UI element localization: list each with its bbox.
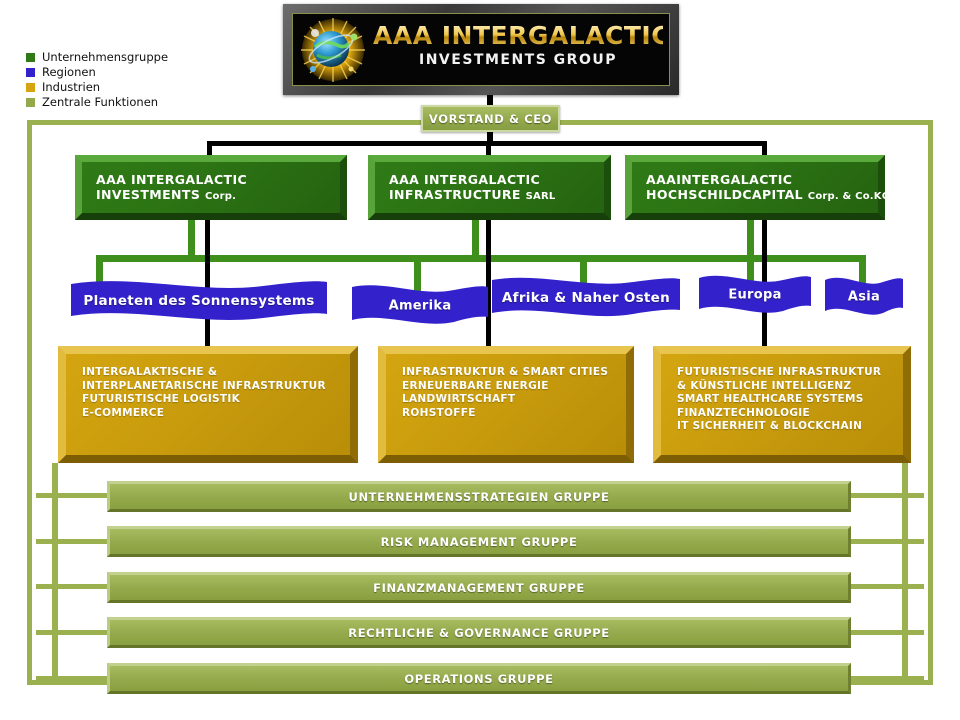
legend-item-industrien: Industrien (26, 80, 168, 94)
logo-title: AAA INTERGALACTIC (373, 22, 663, 50)
legend-item-unternehmensgruppe: Unternehmensgruppe (26, 50, 168, 64)
industry3-line3: SMART HEALTHCARE SYSTEMS (677, 393, 903, 407)
node-aaa-intergalactic-investments[interactable]: AAA INTERGALACTIC INVESTMENTS Corp. (75, 155, 347, 220)
node-investments-suffix: Corp. (205, 191, 236, 202)
logo-panel: AAA INTERGALACTIC INVESTMENTS GROUP (292, 13, 670, 86)
node-aaa-intergalactic-hochschildcapital[interactable]: AAAINTERGALACTIC HOCHSCHILDCAPITAL Corp.… (625, 155, 885, 220)
connector-co3-stem (747, 220, 754, 260)
industry2-line2: ERNEUERBARE ENERGIE (402, 380, 626, 394)
ribbon-shape (699, 275, 811, 315)
legend: Unternehmensgruppe Regionen Industrien Z… (26, 50, 168, 110)
connector-industry-line-2 (486, 220, 491, 348)
node-function-rechtliche-governance-label: RECHTLICHE & GOVERNANCE GRUPPE (348, 626, 610, 640)
legend-swatch-unternehmensgruppe (26, 53, 35, 62)
node-investments-line2: INVESTMENTS Corp. (96, 187, 340, 204)
connector-fn3-left (36, 584, 110, 589)
logo-subtitle: INVESTMENTS GROUP (373, 51, 663, 69)
legend-label-unternehmensgruppe: Unternehmensgruppe (42, 51, 168, 64)
company-logo: AAA INTERGALACTIC INVESTMENTS GROUP (283, 4, 679, 95)
node-function-operations-label: OPERATIONS GRUPPE (404, 672, 553, 686)
industry1-line1: INTERGALAKTISCHE & (82, 366, 350, 380)
connector-fn1-left (36, 493, 110, 498)
node-vorstand-ceo[interactable]: VORSTAND & CEO (421, 105, 560, 132)
legend-label-zentrale-funktionen: Zentrale Funktionen (42, 96, 158, 109)
ribbon-shape (492, 277, 680, 319)
node-vorstand-ceo-label: VORSTAND & CEO (429, 112, 552, 126)
node-infrastructure-line2: INFRASTRUCTURE SARL (389, 187, 604, 204)
node-function-rechtliche-governance[interactable]: RECHTLICHE & GOVERNANCE GRUPPE (107, 617, 851, 648)
node-aaa-intergalactic-infrastructure[interactable]: AAA INTERGALACTIC INFRASTRUCTURE SARL (368, 155, 611, 220)
logo-text-block: AAA INTERGALACTIC INVESTMENTS GROUP (373, 22, 663, 69)
node-function-unternehmensstrategien[interactable]: UNTERNEHMENSSTRATEGIEN GRUPPE (107, 481, 851, 512)
legend-label-regionen: Regionen (42, 66, 96, 79)
node-industry-investments[interactable]: INTERGALAKTISCHE & INTERPLANETARISCHE IN… (58, 346, 358, 463)
connector-fn1-right (848, 493, 924, 498)
connector-fn5-left (36, 676, 110, 681)
node-hochschild-line2: HOCHSCHILDCAPITAL Corp. & Co.KG (646, 187, 878, 204)
node-function-risk-management-label: RISK MANAGEMENT GRUPPE (381, 535, 578, 549)
node-function-finanzmanagement-label: FINANZMANAGEMENT GRUPPE (373, 581, 585, 595)
node-infrastructure-line1: AAA INTERGALACTIC (389, 172, 604, 187)
node-function-operations[interactable]: OPERATIONS GRUPPE (107, 663, 851, 694)
node-industry-hochschildcapital[interactable]: FUTURISTISCHE INFRASTRUKTUR & KÜNSTLICHE… (653, 346, 911, 463)
node-hochschild-suffix: Corp. & Co.KG (808, 191, 890, 202)
industry2-line3: LANDWIRTSCHAFT (402, 393, 626, 407)
legend-item-zentrale-funktionen: Zentrale Funktionen (26, 95, 168, 109)
node-region-afrika-naher-osten[interactable]: Afrika & Naher Osten (492, 277, 680, 319)
industry3-line5: IT SICHERHEIT & BLOCKCHAIN (677, 420, 903, 434)
globe-sun-emblem-icon (299, 17, 367, 83)
connector-fn2-left (36, 539, 110, 544)
legend-label-industrien: Industrien (42, 81, 100, 94)
industry2-line1: INFRASTRUKTUR & SMART CITIES (402, 366, 626, 380)
industry3-line2: & KÜNSTLICHE INTELLIGENZ (677, 380, 903, 394)
connector-co1-stem (188, 220, 195, 260)
industry2-line4: ROHSTOFFE (402, 407, 626, 421)
connector-co2-stem (472, 220, 479, 260)
legend-swatch-zentrale-funktionen (26, 98, 35, 107)
industry3-line1: FUTURISTISCHE INFRASTRUKTUR (677, 366, 903, 380)
node-investments-line1: AAA INTERGALACTIC (96, 172, 340, 187)
connector-fn3-right (848, 584, 924, 589)
legend-swatch-regionen (26, 68, 35, 77)
legend-item-regionen: Regionen (26, 65, 168, 79)
ribbon-shape (825, 277, 903, 317)
org-chart: Unternehmensgruppe Regionen Industrien Z… (0, 0, 960, 720)
industry1-line2: INTERPLANETARISCHE INFRASTRUKTUR (82, 380, 350, 394)
node-region-europa[interactable]: Europa (699, 275, 811, 315)
industry1-line4: E-COMMERCE (82, 407, 350, 421)
connector-fn5-right (848, 676, 924, 681)
node-function-finanzmanagement[interactable]: FINANZMANAGEMENT GRUPPE (107, 572, 851, 603)
connector-fn2-right (848, 539, 924, 544)
industry1-line3: FUTURISTISCHE LOGISTIK (82, 393, 350, 407)
node-infrastructure-suffix: SARL (526, 191, 556, 202)
node-function-unternehmensstrategien-label: UNTERNEHMENSSTRATEGIEN GRUPPE (349, 490, 610, 504)
industry3-line4: FINANZTECHNOLOGIE (677, 407, 903, 421)
node-industry-infrastructure[interactable]: INFRASTRUKTUR & SMART CITIES ERNEUERBARE… (378, 346, 634, 463)
connector-fn4-left (36, 630, 110, 635)
node-region-asia[interactable]: Asia (825, 277, 903, 317)
connector-fn4-right (848, 630, 924, 635)
ribbon-shape (71, 280, 327, 322)
node-region-amerika[interactable]: Amerika (352, 285, 488, 327)
legend-swatch-industrien (26, 83, 35, 92)
node-hochschild-line1: AAAINTERGALACTIC (646, 172, 878, 187)
node-region-planeten-des-sonnensystems[interactable]: Planeten des Sonnensystems (71, 280, 327, 322)
node-function-risk-management[interactable]: RISK MANAGEMENT GRUPPE (107, 526, 851, 557)
ribbon-shape (352, 285, 488, 327)
